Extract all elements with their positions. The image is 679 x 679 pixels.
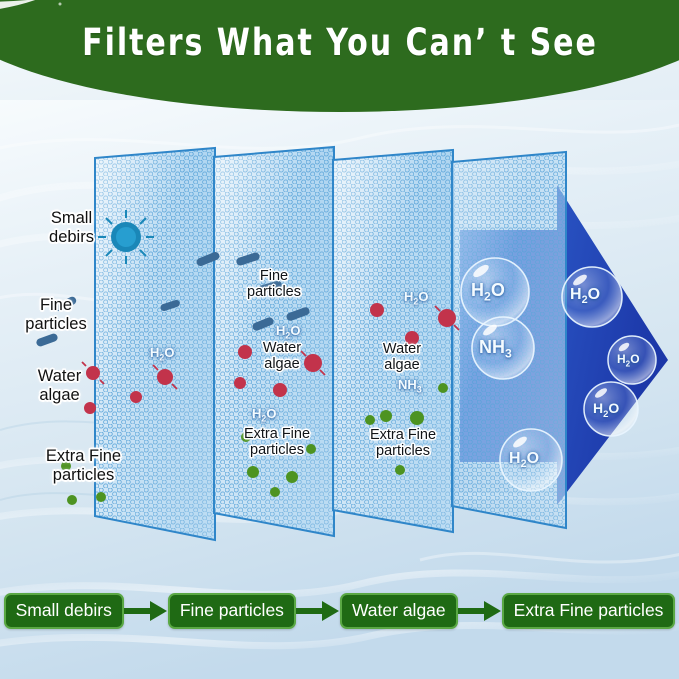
filter-panel-1 — [90, 140, 225, 550]
flow-step-extra-fine-particles[interactable]: Extra Fine particles — [502, 593, 676, 630]
flow-arrow-icon-2 — [296, 599, 340, 623]
flow-step-fine-particles[interactable]: Fine particles — [168, 593, 296, 630]
flow-step-water-algae[interactable]: Water algae — [340, 593, 458, 630]
flow-arrow-icon-1 — [124, 599, 168, 623]
filter-panel-3 — [328, 142, 463, 547]
infographic-canvas: H2O H2O H2O H2O NH3 H2O NH3 H2O H2O H2O … — [0, 0, 679, 679]
filtration-flow-row: Small debirs Fine particles Water algae … — [0, 590, 679, 632]
page-title: Filters What You Can’ t See — [0, 21, 679, 65]
flow-step-small-debirs[interactable]: Small debirs — [4, 593, 124, 630]
flow-arrow-icon-3 — [458, 599, 502, 623]
